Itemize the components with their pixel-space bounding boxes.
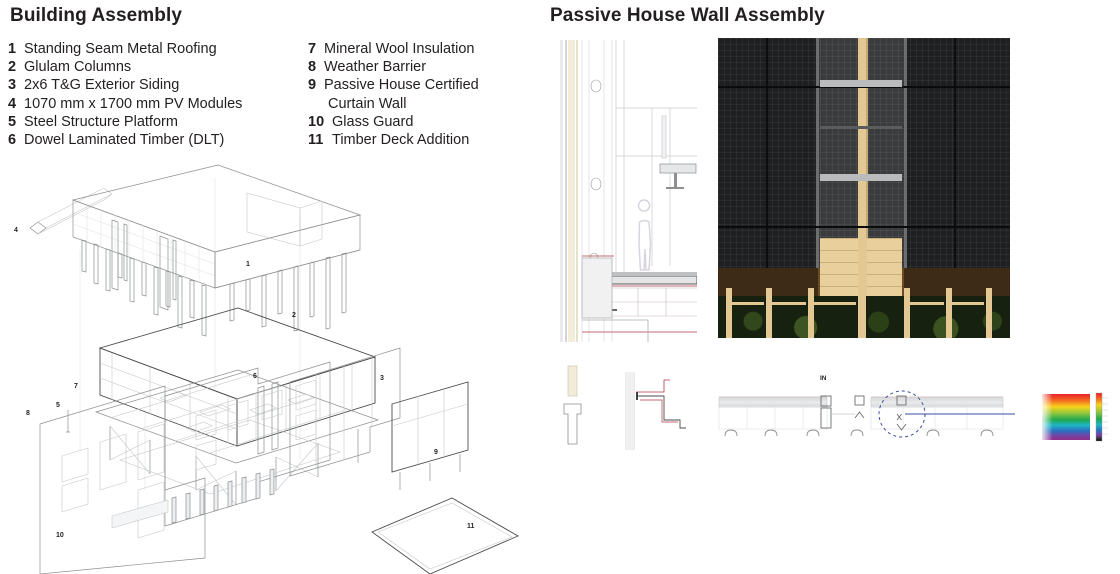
list-item: 10 Glass Guard xyxy=(308,113,528,131)
legend-number: 7 xyxy=(308,40,320,58)
legend-label: Steel Structure Platform xyxy=(24,113,178,131)
axon-tag-3: 3 xyxy=(380,375,384,382)
legend-label: 2x6 T&G Exterior Siding xyxy=(24,76,179,94)
construction-detail-drawings xyxy=(552,362,697,457)
list-item: 2 Glulam Columns xyxy=(8,58,308,76)
legend-number: 11 xyxy=(308,131,328,149)
passive-house-wall-panel: Passive House Wall Assembly xyxy=(540,0,1120,574)
axon-tag-1: 1 xyxy=(246,261,250,268)
axon-tag-7: 7 xyxy=(74,383,78,390)
axon-tag-4: 4 xyxy=(14,227,18,234)
glulam-columns-part xyxy=(82,220,346,336)
list-item: 4 1070 mm x 1700 mm PV Modules xyxy=(8,95,308,113)
section-title: Passive House Wall Assembly xyxy=(550,5,825,27)
axon-tag-5: 5 xyxy=(56,402,60,409)
legend-label-continued: Curtain Wall xyxy=(308,95,528,113)
list-item: 3 2x6 T&G Exterior Siding xyxy=(8,76,308,94)
legend-label: Timber Deck Addition xyxy=(332,131,469,149)
axon-tag-11: 11 xyxy=(467,523,475,530)
legend-number: 5 xyxy=(8,113,20,131)
exploded-axonometric-diagram: 4 xyxy=(0,160,540,574)
roof-volume-part xyxy=(73,165,360,288)
building-assembly-panel: Building Assembly 1 Standing Seam Metal … xyxy=(0,0,540,574)
pv-module-part xyxy=(30,188,112,234)
legend-number: 4 xyxy=(8,95,20,113)
legend-column-left: 1 Standing Seam Metal Roofing 2 Glulam C… xyxy=(8,40,308,149)
legend-number: 6 xyxy=(8,131,20,149)
curtain-wall-part xyxy=(392,382,468,490)
siding-volume-part xyxy=(100,308,375,446)
legend-label: 1070 mm x 1700 mm PV Modules xyxy=(24,95,242,113)
legend-label: Weather Barrier xyxy=(324,58,426,76)
facade-photograph xyxy=(718,38,1010,338)
list-item: 7 Mineral Wool Insulation xyxy=(308,40,528,58)
axon-tag-6: 6 xyxy=(253,373,257,380)
axon-tag-10: 10 xyxy=(56,532,64,539)
legend-label: Glulam Columns xyxy=(24,58,131,76)
list-item: 1 Standing Seam Metal Roofing xyxy=(8,40,308,58)
legend-number: 1 xyxy=(8,40,20,58)
legend-number: 10 xyxy=(308,113,328,131)
list-item: 11 Timber Deck Addition xyxy=(308,131,528,149)
axon-tag-8: 8 xyxy=(26,410,30,417)
legend-label: Dowel Laminated Timber (DLT) xyxy=(24,131,224,149)
glass-guard-part xyxy=(112,469,274,528)
page-title: Building Assembly xyxy=(10,5,182,27)
list-item: 8 Weather Barrier xyxy=(308,58,528,76)
legend-label: Standing Seam Metal Roofing xyxy=(24,40,217,58)
wall-section-drawing xyxy=(552,36,697,346)
legend-label: Passive House Certified xyxy=(324,76,479,94)
legend-column-right: 7 Mineral Wool Insulation 8 Weather Barr… xyxy=(308,40,528,149)
thermal-gradient-legend xyxy=(1040,390,1110,445)
list-item: 6 Dowel Laminated Timber (DLT) xyxy=(8,131,308,149)
legend-number: 8 xyxy=(308,58,320,76)
axon-tag-9: 9 xyxy=(434,449,438,456)
list-item: 5 Steel Structure Platform xyxy=(8,113,308,131)
legend-label: Glass Guard xyxy=(332,113,413,131)
in-label: IN xyxy=(820,375,827,382)
legend-number: 9 xyxy=(308,76,320,94)
timber-deck-part xyxy=(372,498,518,574)
thermal-bridge-plan-diagram: IN xyxy=(715,372,1015,452)
legend-number: 3 xyxy=(8,76,20,94)
axon-tag-2: 2 xyxy=(292,312,296,319)
assembly-legend: 1 Standing Seam Metal Roofing 2 Glulam C… xyxy=(8,40,528,149)
list-item: 9 Passive House Certified xyxy=(308,76,528,94)
legend-number: 2 xyxy=(8,58,20,76)
dlt-panel-part xyxy=(258,348,400,476)
legend-label: Mineral Wool Insulation xyxy=(324,40,474,58)
